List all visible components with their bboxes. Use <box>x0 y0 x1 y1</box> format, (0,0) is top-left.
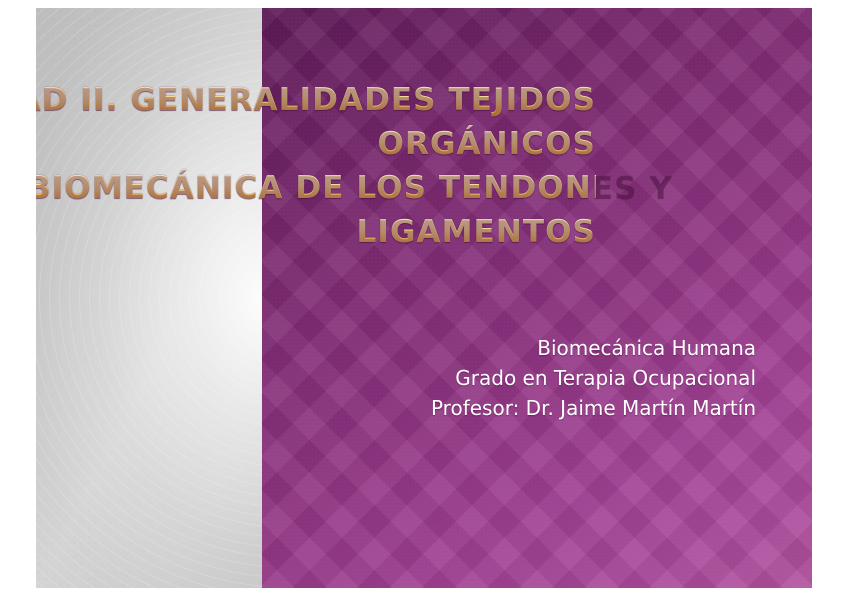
title-line-1: UNIDAD II. GENERALIDADES TEJIDOS <box>36 78 596 122</box>
subtitle-professor: Profesor: Dr. Jaime Martín Martín <box>236 393 756 423</box>
title-line-3: TEMA 5. BIOMECÁNICA DE LOS TENDONES Y <box>36 166 596 210</box>
subtitle-course-name: Biomecánica Humana <box>236 333 756 363</box>
slide-subtitle: Biomecánica Humana Grado en Terapia Ocup… <box>236 333 756 423</box>
title-line-4: LIGAMENTOS <box>36 210 596 254</box>
subtitle-degree-program: Grado en Terapia Ocupacional <box>236 363 756 393</box>
title-line-2: ORGÁNICOS <box>36 122 596 166</box>
slide-title: UNIDAD II. GENERALIDADES TEJIDOS ORGÁNIC… <box>36 78 596 254</box>
presentation-slide: UNIDAD II. GENERALIDADES TEJIDOS ORGÁNIC… <box>36 8 812 588</box>
